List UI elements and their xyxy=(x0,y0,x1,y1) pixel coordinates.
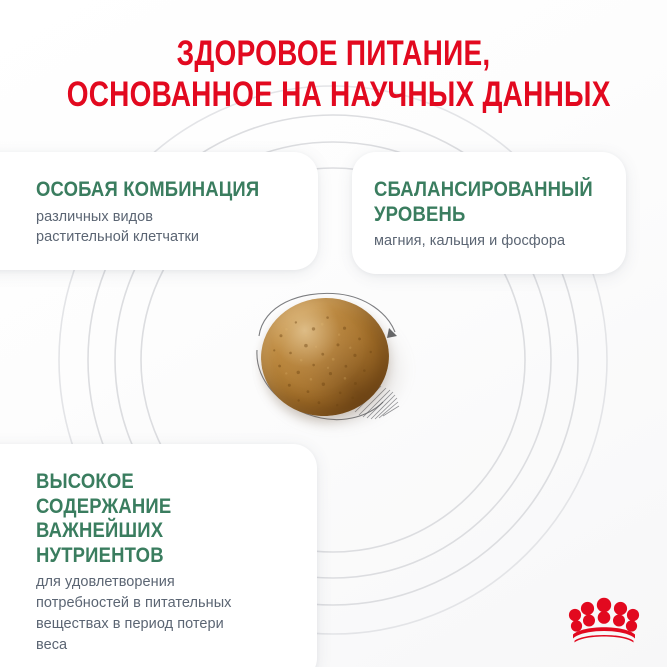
kibble-body xyxy=(256,293,394,422)
feature-card-special-combination: ОСОБАЯ КОМБИНАЦИЯ различных видов растит… xyxy=(0,152,318,270)
feature-card-body: для удовлетворения потребностей в питате… xyxy=(36,572,297,656)
royal-canin-crown-icon xyxy=(567,593,641,645)
page-title: ЗДОРОВОЕ ПИТАНИЕ, ОСНОВАННОЕ НА НАУЧНЫХ … xyxy=(0,34,667,115)
feature-card-body: различных видов растительной клетчатки xyxy=(36,207,296,249)
feature-card-heading: СБАЛАНСИРОВАННЫЙ УРОВЕНЬ xyxy=(374,178,576,227)
feature-card-heading: ОСОБАЯ КОМБИНАЦИЯ xyxy=(36,178,265,203)
infographic-canvas: ЗДОРОВОЕ ПИТАНИЕ, ОСНОВАННОЕ НА НАУЧНЫХ … xyxy=(0,0,667,667)
page-title-line-2: ОСНОВАННОЕ НА НАУЧНЫХ ДАННЫХ xyxy=(67,75,601,116)
feature-card-body: магния, кальция и фосфора xyxy=(374,231,604,252)
kibble-texture xyxy=(256,293,394,422)
kibble-illustration xyxy=(247,284,419,436)
feature-card-high-nutrient-content: ВЫСОКОЕ СОДЕРЖАНИЕ ВАЖНЕЙШИХ НУТРИЕНТОВ … xyxy=(0,444,317,667)
page-title-line-1: ЗДОРОВОЕ ПИТАНИЕ, xyxy=(67,34,601,75)
feature-card-heading: ВЫСОКОЕ СОДЕРЖАНИЕ ВАЖНЕЙШИХ НУТРИЕНТОВ xyxy=(36,470,266,568)
feature-card-balanced-level: СБАЛАНСИРОВАННЫЙ УРОВЕНЬ магния, кальция… xyxy=(352,152,626,274)
